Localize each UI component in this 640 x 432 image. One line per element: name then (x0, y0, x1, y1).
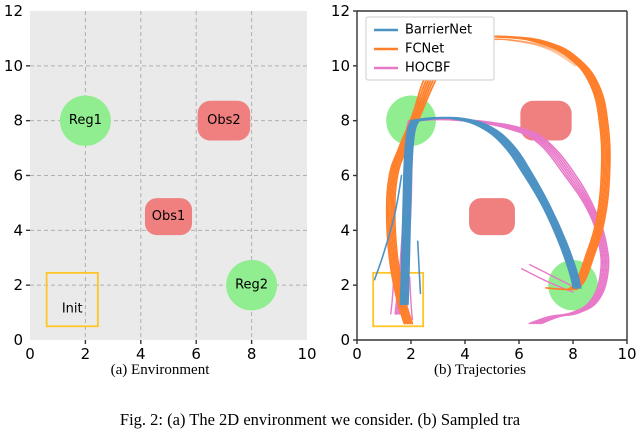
x-tick-label: 4 (136, 345, 146, 360)
shape-label-obs1: Obs1 (152, 209, 186, 224)
legend-label-barriernet[interactable]: BarrierNet (405, 23, 472, 38)
shape-label-reg2: Reg2 (235, 278, 268, 293)
panel-a-plot: Reg1Reg2Obs1Obs2Init 0246810120246810 (0, 0, 320, 360)
y-tick-label: 8 (13, 112, 23, 130)
y-tick-label: 4 (13, 221, 23, 239)
x-tick-label: 8 (247, 345, 257, 360)
x-tick-label: 0 (25, 345, 35, 360)
panel-b-trajectories: 0246810120246810 BarrierNetFCNetHOCBF (b… (320, 0, 640, 395)
y-tick-label: 6 (13, 167, 23, 185)
figure-2: Reg1Reg2Obs1Obs2Init 0246810120246810 (a… (0, 0, 640, 432)
x-tick-label: 6 (514, 345, 524, 360)
y-tick-label: 8 (340, 112, 350, 130)
y-tick-label: 0 (340, 331, 350, 349)
x-tick-label: 6 (191, 345, 201, 360)
legend-label-fcnet[interactable]: FCNet (405, 42, 444, 57)
panel-b-plot: 0246810120246810 BarrierNetFCNetHOCBF (320, 0, 640, 360)
y-tick-label: 10 (4, 57, 23, 75)
figure-caption: Fig. 2: (a) The 2D environment we consid… (0, 405, 640, 432)
y-tick-label: 2 (13, 276, 23, 294)
panel-a-subcaption: (a) Environment (0, 362, 320, 379)
x-tick-label: 4 (460, 345, 470, 360)
x-tick-label: 10 (617, 345, 636, 360)
x-tick-label: 10 (297, 345, 316, 360)
shape-obs1 (469, 198, 515, 235)
y-tick-label: 10 (331, 57, 350, 75)
y-tick-label: 12 (4, 2, 23, 20)
y-tick-label: 6 (340, 167, 350, 185)
shape-label-init: Init (62, 302, 83, 317)
panel-b-subcaption: (b) Trajectories (320, 362, 640, 379)
y-tick-label: 4 (340, 221, 350, 239)
x-tick-label: 8 (568, 345, 578, 360)
x-tick-label: 0 (352, 345, 362, 360)
y-tick-label: 0 (13, 331, 23, 349)
panel-a-environment: Reg1Reg2Obs1Obs2Init 0246810120246810 (a… (0, 0, 320, 395)
shape-label-obs2: Obs2 (207, 113, 241, 128)
shape-label-reg1: Reg1 (69, 113, 102, 128)
y-tick-label: 12 (331, 2, 350, 20)
legend-label-hocbf[interactable]: HOCBF (405, 61, 450, 76)
y-tick-label: 2 (340, 276, 350, 294)
legend[interactable]: BarrierNetFCNetHOCBF (366, 17, 494, 80)
x-tick-label: 2 (81, 345, 91, 360)
x-tick-label: 2 (406, 345, 416, 360)
